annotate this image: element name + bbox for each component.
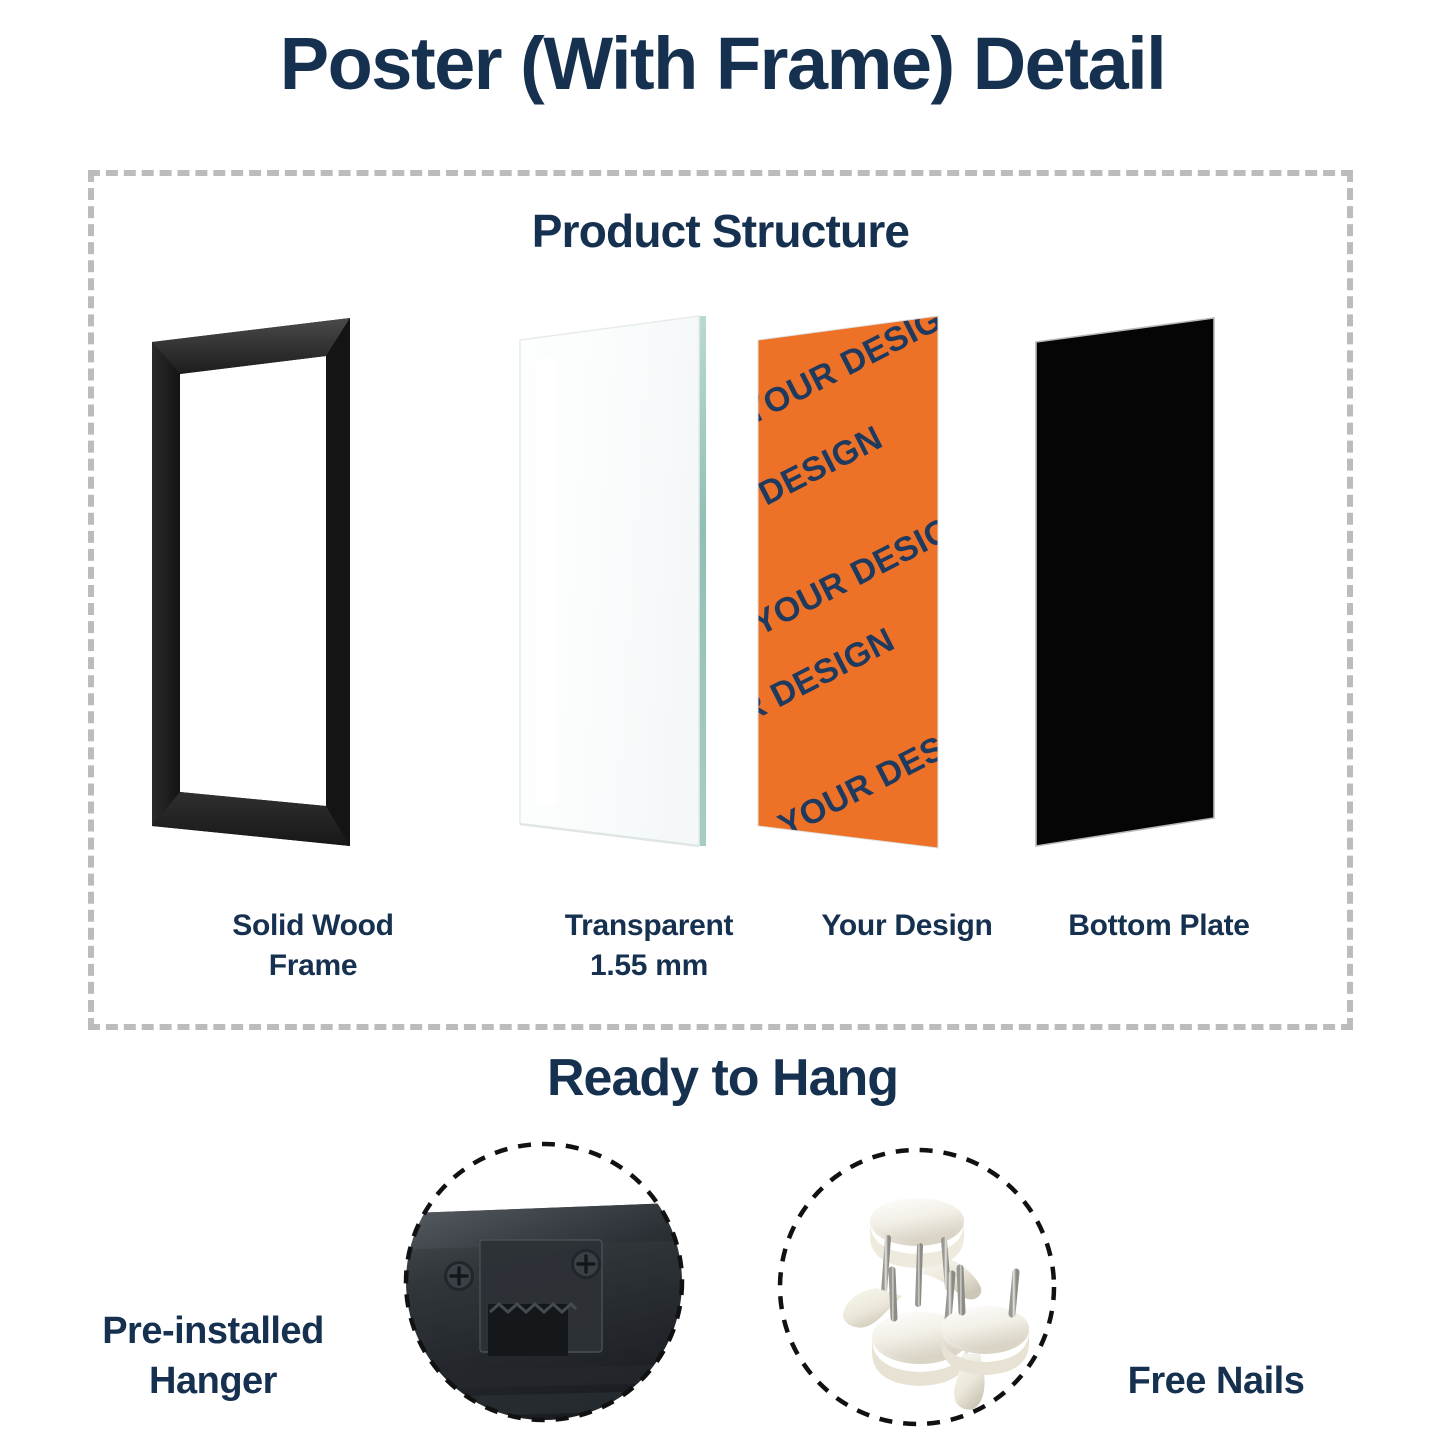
panel-solid-wood-frame: Solid Wood Frame — [128, 306, 498, 866]
product-structure-heading: Product Structure — [94, 204, 1347, 258]
hanger-photo-circle — [398, 1136, 690, 1428]
panel-label-line1: Your Design — [821, 909, 992, 942]
panel-label-line2: Frame — [269, 949, 358, 982]
pre-installed-hanger-label: Pre-installed Hanger — [48, 1306, 378, 1406]
panel-row: Solid Wood Frame — [94, 306, 1347, 906]
page-title: Poster (With Frame) Detail — [0, 24, 1445, 104]
hanger-label-line1: Pre-installed — [102, 1310, 324, 1352]
product-structure-box: Product Structure — [88, 170, 1353, 1030]
wood-frame-panel-icon — [128, 306, 498, 866]
panel-label-bottom-plate: Bottom Plate — [994, 906, 1324, 946]
bottom-plate-panel-icon — [994, 306, 1324, 866]
panel-label-line1: Transparent — [565, 909, 733, 942]
wall-hook-nails-icon — [772, 1142, 1062, 1432]
panel-bottom-plate: Bottom Plate — [994, 306, 1324, 866]
ready-to-hang-row: Pre-installed Hanger Free Nails — [0, 1128, 1445, 1445]
panel-label-solid-wood-frame: Solid Wood Frame — [128, 906, 498, 986]
hanger-bracket-icon — [398, 1136, 690, 1428]
panel-label-line1: Solid Wood — [232, 909, 393, 942]
free-nails-label: Free Nails — [1046, 1360, 1386, 1403]
panel-label-line1: Bottom Plate — [1068, 909, 1249, 942]
poster-detail-infographic: Poster (With Frame) Detail Product Struc… — [0, 0, 1445, 1445]
ready-to-hang-heading: Ready to Hang — [0, 1048, 1445, 1108]
nails-photo-circle — [772, 1142, 1062, 1432]
panel-label-line2: 1.55 mm — [590, 949, 708, 982]
hanger-label-line2: Hanger — [149, 1360, 277, 1402]
